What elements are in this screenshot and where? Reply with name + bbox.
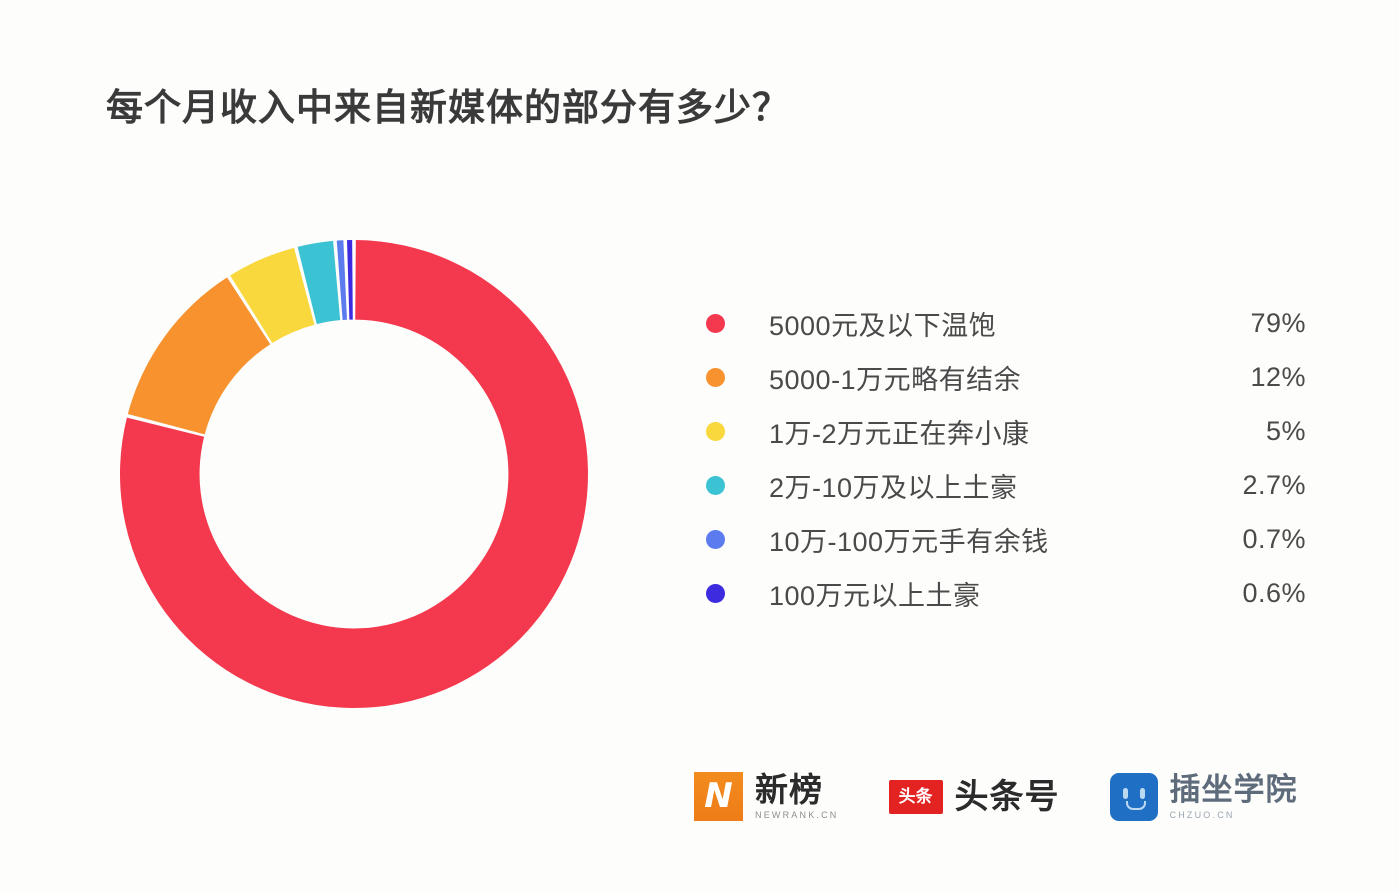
donut-slice-group xyxy=(120,240,588,708)
legend-item-label: 2万-10万及以上土豪 xyxy=(769,466,1196,505)
legend-item-1[interactable]: 5000-1万元略有结余 12% xyxy=(706,350,1306,404)
legend-dot-icon xyxy=(706,530,725,549)
chart-legend: 5000元及以下温饱 79% 5000-1万元略有结余 12% 1万-2万元正在… xyxy=(706,296,1306,620)
legend-item-label: 5000-1万元略有结余 xyxy=(769,358,1196,397)
footer-logo-bar: N 新榜 NEWRANK.CN 头条 头条号 插坐学院 CHZUO.CN xyxy=(694,772,1298,821)
legend-dot-icon xyxy=(706,314,725,333)
logo-chazuo-xueyuan[interactable]: 插坐学院 CHZUO.CN xyxy=(1110,773,1298,821)
legend-item-value: 5% xyxy=(1196,416,1306,447)
legend-item-value: 12% xyxy=(1196,362,1306,393)
donut-slice[interactable] xyxy=(347,240,353,320)
chazuo-mouth-icon xyxy=(1126,801,1146,810)
legend-item-value: 0.6% xyxy=(1196,578,1306,609)
legend-item-5[interactable]: 100万元以上土豪 0.6% xyxy=(706,566,1306,620)
legend-item-3[interactable]: 2万-10万及以上土豪 2.7% xyxy=(706,458,1306,512)
chazuo-wordmark: 插坐学院 CHZUO.CN xyxy=(1170,774,1298,820)
donut-chart-svg xyxy=(118,238,590,710)
legend-item-label: 1万-2万元正在奔小康 xyxy=(769,412,1196,451)
legend-dot-icon xyxy=(706,476,725,495)
legend-dot-icon xyxy=(706,368,725,387)
legend-item-label: 5000元及以下温饱 xyxy=(769,304,1196,343)
legend-item-value: 0.7% xyxy=(1196,524,1306,555)
newrank-wordmark: 新榜 NEWRANK.CN xyxy=(755,773,839,820)
chazuo-eye-left-icon xyxy=(1123,788,1128,799)
legend-dot-icon xyxy=(706,422,725,441)
newrank-mark-icon: N xyxy=(694,772,743,821)
toutiao-badge-icon: 头条 xyxy=(889,780,943,814)
logo-newrank[interactable]: N 新榜 NEWRANK.CN xyxy=(694,772,839,821)
legend-item-value: 79% xyxy=(1196,308,1306,339)
newrank-name-cn: 新榜 xyxy=(755,773,839,806)
legend-item-label: 100万元以上土豪 xyxy=(769,574,1196,613)
legend-dot-icon xyxy=(706,584,725,603)
page-title: 每个月收入中来自新媒体的部分有多少？ xyxy=(106,86,790,130)
logo-toutiaohao[interactable]: 头条 头条号 xyxy=(889,780,1060,814)
legend-item-0[interactable]: 5000元及以下温饱 79% xyxy=(706,296,1306,350)
chart-page: 每个月收入中来自新媒体的部分有多少？ 5000元及以下温饱 79% 5000-1… xyxy=(0,0,1399,893)
legend-item-2[interactable]: 1万-2万元正在奔小康 5% xyxy=(706,404,1306,458)
chazuo-name-cn: 插坐学院 xyxy=(1170,774,1298,805)
donut-chart xyxy=(118,238,590,710)
chazuo-name-en: CHZUO.CN xyxy=(1170,810,1298,820)
legend-item-label: 10万-100万元手有余钱 xyxy=(769,520,1196,559)
legend-item-value: 2.7% xyxy=(1196,470,1306,501)
legend-item-4[interactable]: 10万-100万元手有余钱 0.7% xyxy=(706,512,1306,566)
toutiaohao-name-cn: 头条号 xyxy=(955,780,1060,814)
chazuo-face-icon xyxy=(1110,773,1158,821)
newrank-name-en: NEWRANK.CN xyxy=(755,810,839,820)
newrank-glyph: N xyxy=(703,779,734,814)
chazuo-eye-right-icon xyxy=(1140,788,1145,799)
